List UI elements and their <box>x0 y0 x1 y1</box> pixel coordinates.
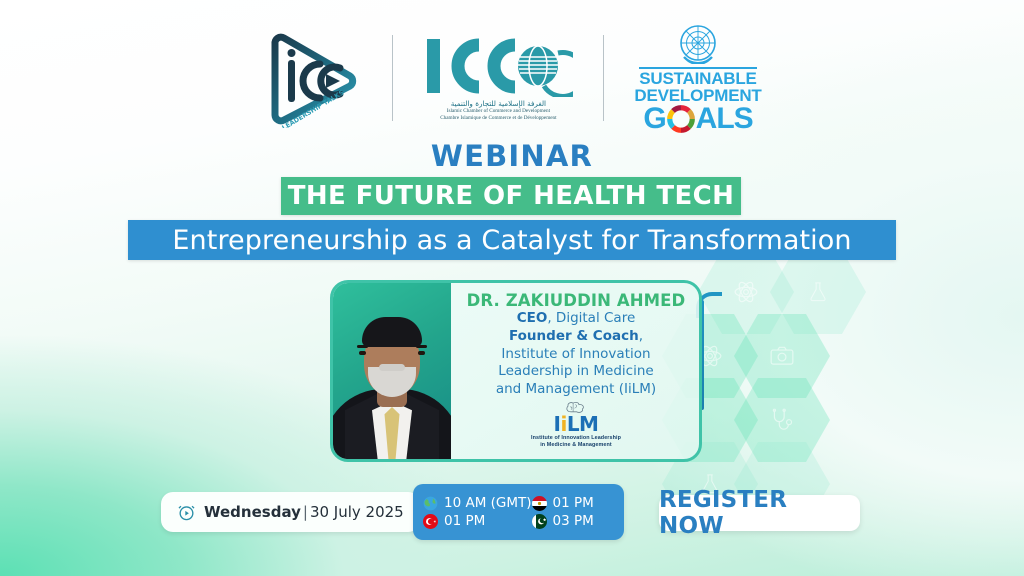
speaker-card: DR. ZAKIUDDIN AHMED CEO, Digital Care Fo… <box>330 280 702 462</box>
subtitle-band: Entrepreneurship as a Catalyst for Trans… <box>128 220 896 260</box>
iilm-logo: IiLM Institute of Innovation Leadership … <box>531 401 621 450</box>
speaker-role-bold: CEO <box>517 310 548 326</box>
speaker-title-rest: , <box>639 328 643 344</box>
speaker-name: DR. ZAKIUDDIN AHMED <box>467 291 686 310</box>
headline-band: THE FUTURE OF HEALTH TECH <box>281 177 741 215</box>
timezone-item-pakistan: 03 PM <box>532 513 614 529</box>
speaker-role: CEO, Digital Care <box>517 310 636 328</box>
turkey-flag-icon <box>423 514 438 529</box>
timezone-panel: 10 AM (GMT) 01 PM 01 PM 03 PM <box>413 484 624 540</box>
iilm-wordmark: IiLM <box>554 414 599 434</box>
speaker-role-rest: , Digital Care <box>547 310 635 326</box>
speaker-photo <box>333 283 451 459</box>
speaker-info: DR. ZAKIUDDIN AHMED CEO, Digital Care Fo… <box>451 283 699 459</box>
iccd-leadership-talks-logo: LEADERSHIP TALKS <box>262 28 362 128</box>
logo-divider <box>392 35 393 121</box>
un-sdg-logo: SUSTAINABLE DEVELOPMENT G <box>634 22 761 133</box>
globe-icon <box>423 496 438 511</box>
logo-divider <box>603 35 604 121</box>
speaker-title-bold: Founder & Coach <box>509 328 639 344</box>
iccd-arabic-name: الغرفة الإسلامية للتجارة والتنمية <box>451 99 546 108</box>
webinar-eyebrow: WEBINAR <box>0 139 1024 173</box>
alarm-clock-icon <box>177 503 196 522</box>
timezone-label-turkey: 01 PM <box>444 513 485 529</box>
headline-text: THE FUTURE OF HEALTH TECH <box>288 181 735 211</box>
iilm-post: LM <box>567 412 599 436</box>
sdg-line-3: G ALS <box>643 104 752 134</box>
timezone-label-egypt: 01 PM <box>553 495 594 511</box>
date-text: Wednesday|30 July 2025 <box>204 503 404 521</box>
iilm-tagline: Institute of Innovation Leadership in Me… <box>531 435 621 450</box>
timezone-item-turkey: 01 PM <box>423 513 532 529</box>
register-now-button[interactable]: REGISTER NOW <box>659 495 860 531</box>
sdg-wheel-icon <box>666 104 696 134</box>
iccd-mark <box>423 35 573 97</box>
subtitle-text: Entrepreneurship as a Catalyst for Trans… <box>172 225 851 256</box>
sdg-goals-post: ALS <box>696 105 753 132</box>
iccd-talks-mark: LEADERSHIP TALKS <box>262 28 362 128</box>
iccd-logo: الغرفة الإسلامية للتجارة والتنمية Islami… <box>423 35 573 121</box>
speaker-org-line-2: Leadership in Medicine <box>498 363 653 381</box>
timezone-item-egypt: 01 PM <box>532 495 614 511</box>
logo-row: LEADERSHIP TALKS الغرفة الإسلامية للتجار… <box>0 22 1024 134</box>
un-emblem-icon <box>675 22 721 64</box>
speaker-org-line-1: Institute of Innovation <box>501 346 650 364</box>
date-pill: Wednesday|30 July 2025 <box>161 492 420 532</box>
timezone-label-gmt: 10 AM (GMT) <box>444 495 532 511</box>
iccd-english-name: Islamic Chamber of Commerce and Developm… <box>440 108 556 121</box>
timezone-label-pakistan: 03 PM <box>553 513 594 529</box>
speaker-title: Founder & Coach, <box>509 328 643 346</box>
sdg-goals-pre: G <box>643 105 665 132</box>
date-value: 30 July 2025 <box>310 503 404 521</box>
pakistan-flag-icon <box>532 514 547 529</box>
date-separator: | <box>303 503 308 521</box>
timezone-item-gmt: 10 AM (GMT) <box>423 495 532 511</box>
speaker-org-line-3: and Management (IiLM) <box>496 381 656 399</box>
register-now-label: REGISTER NOW <box>659 487 860 539</box>
date-day: Wednesday <box>204 503 301 521</box>
egypt-flag-icon <box>532 496 547 511</box>
